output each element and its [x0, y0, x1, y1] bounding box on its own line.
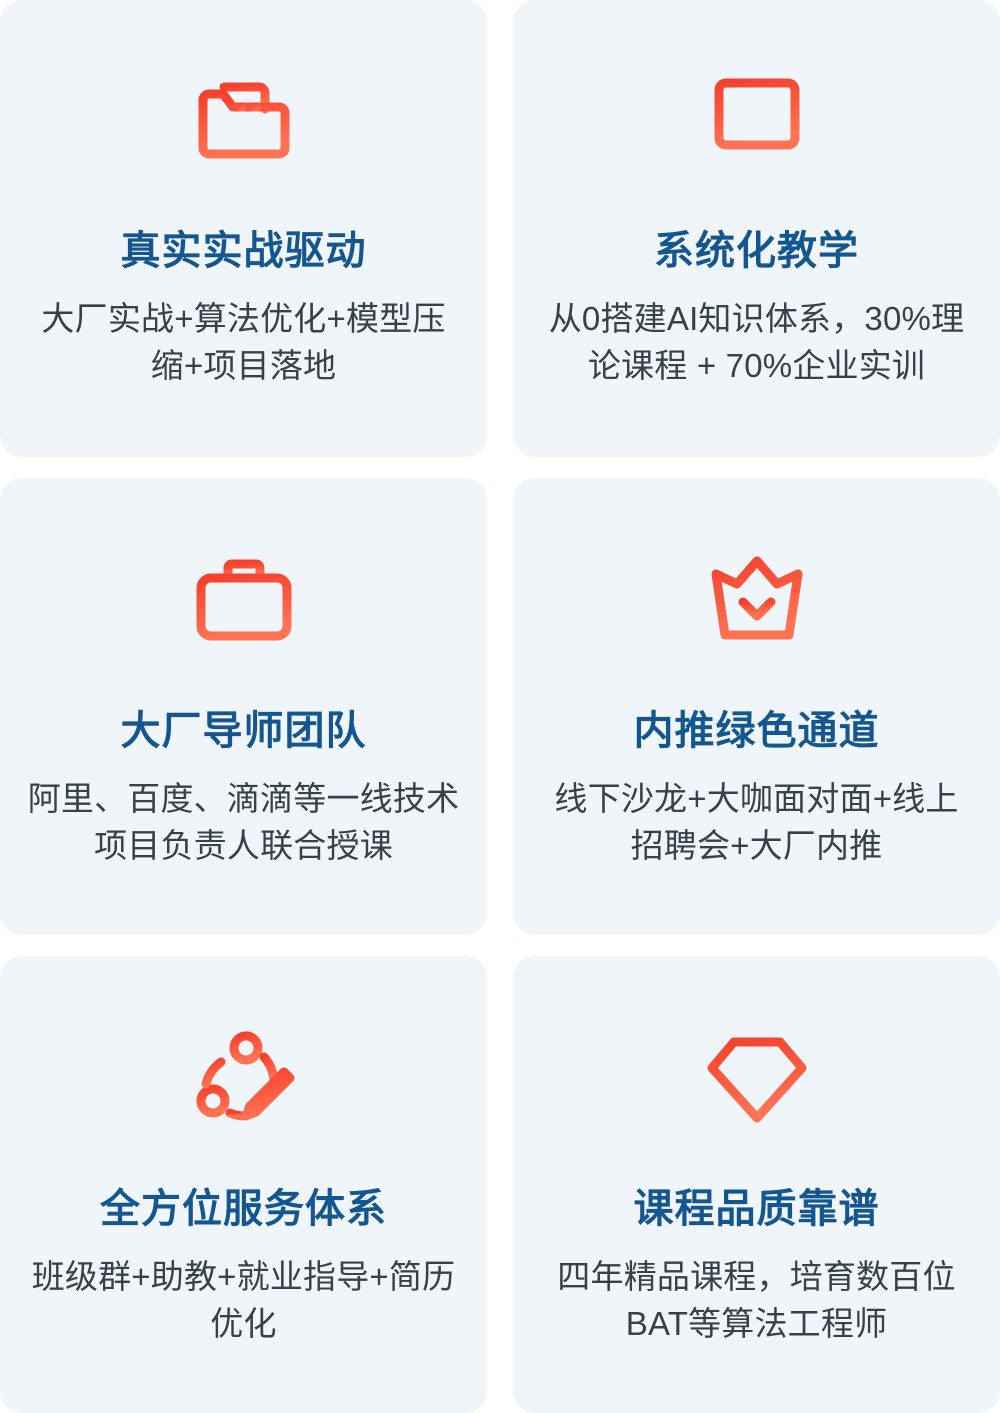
card-description: 线下沙龙+大咖面对面+线上招聘会+大厂内推 — [513, 776, 1000, 870]
card-title: 课程品质靠谱 — [634, 1186, 880, 1232]
card-title: 大厂导师团队 — [121, 708, 367, 754]
card-title: 真实实战驱动 — [121, 228, 367, 274]
feature-card-service-system[interactable]: 全方位服务体系 班级群+助教+就业指导+简历优化 — [0, 956, 487, 1413]
card-title: 系统化教学 — [654, 228, 859, 274]
feature-grid: 真实实战驱动 大厂实战+算法优化+模型压缩+项目落地 系统化教学 从0搭建 — [0, 0, 1000, 1399]
card-title: 全方位服务体系 — [100, 1186, 387, 1232]
diamond-icon — [697, 1018, 817, 1138]
feature-card-mentor-team[interactable]: 大厂导师团队 阿里、百度、滴滴等一线技术项目负责人联合授课 — [0, 478, 487, 935]
feature-card-systematic-teaching[interactable]: 系统化教学 从0搭建AI知识体系，30%理论课程 + 70%企业实训 — [513, 0, 1000, 457]
card-description: 大厂实战+算法优化+模型压缩+项目落地 — [0, 296, 487, 390]
folder-icon — [184, 58, 304, 178]
card-description: 班级群+助教+就业指导+简历优化 — [0, 1254, 487, 1348]
toolbox-icon — [184, 540, 304, 660]
card-description: 四年精品课程，培育数百位BAT等算法工程师 — [513, 1254, 1000, 1348]
feature-card-course-quality[interactable]: 课程品质靠谱 四年精品课程，培育数百位BAT等算法工程师 — [513, 956, 1000, 1413]
crown-icon — [697, 540, 817, 660]
card-description: 阿里、百度、滴滴等一线技术项目负责人联合授课 — [0, 776, 487, 870]
monitor-icon — [697, 58, 817, 178]
collaborate-pencil-icon — [184, 1018, 304, 1138]
feature-card-referral-channel[interactable]: 内推绿色通道 线下沙龙+大咖面对面+线上招聘会+大厂内推 — [513, 478, 1000, 935]
card-title: 内推绿色通道 — [634, 708, 880, 754]
card-description: 从0搭建AI知识体系，30%理论课程 + 70%企业实训 — [513, 296, 1000, 390]
feature-card-real-combat[interactable]: 真实实战驱动 大厂实战+算法优化+模型压缩+项目落地 — [0, 0, 487, 457]
